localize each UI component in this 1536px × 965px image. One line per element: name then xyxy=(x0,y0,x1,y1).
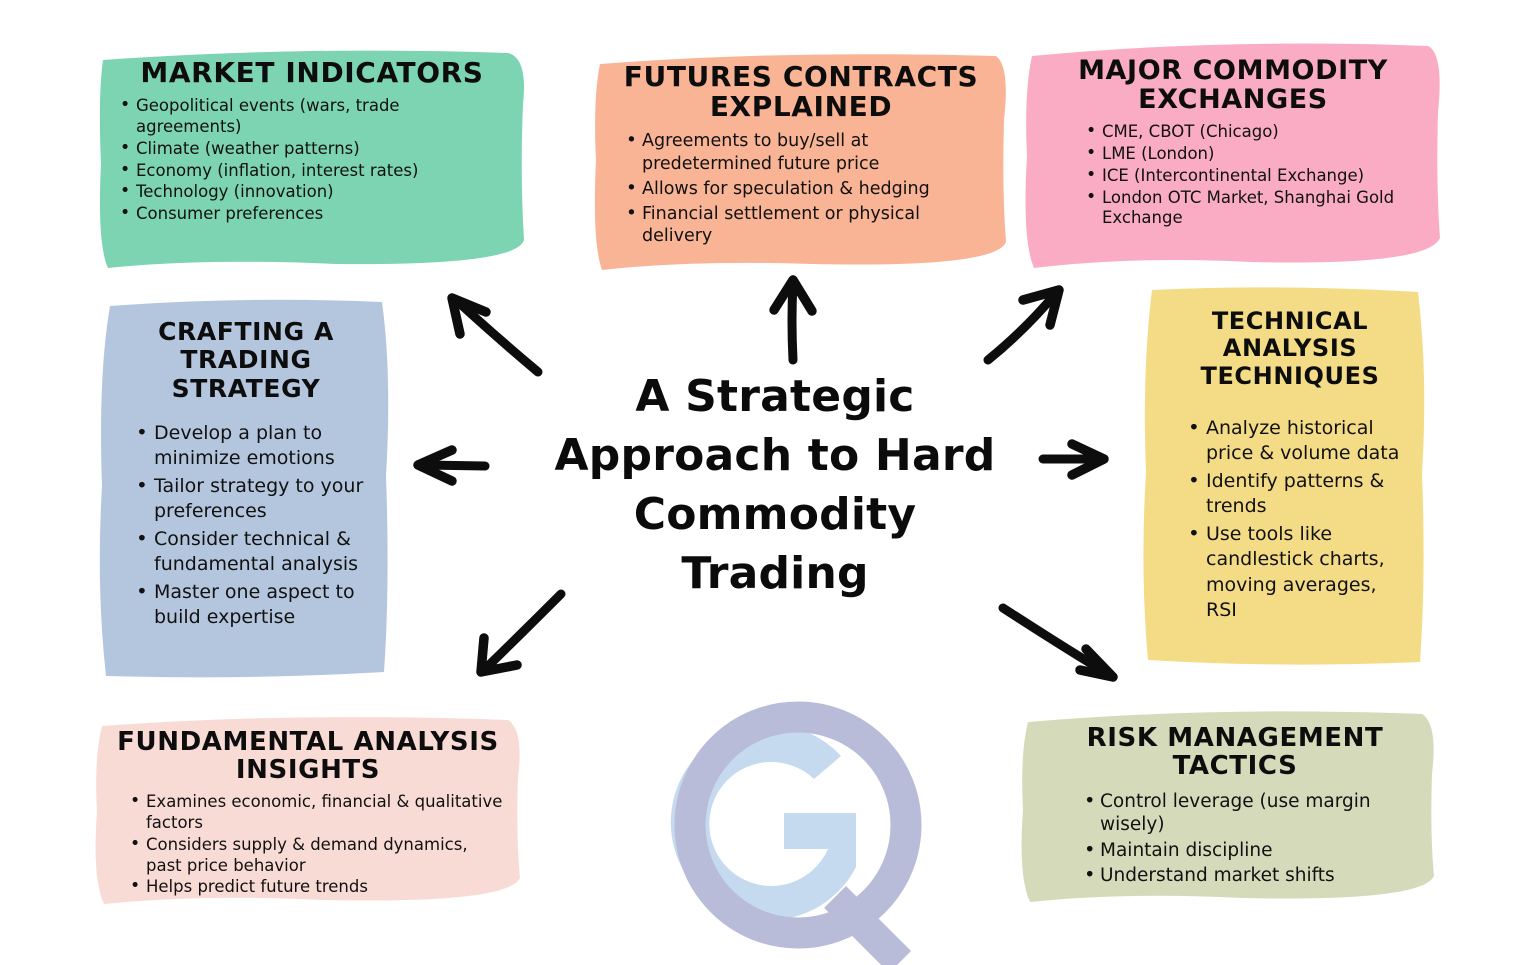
arrow-to-commodity-exchanges xyxy=(988,290,1059,360)
list-item: Climate (weather patterns) xyxy=(116,139,508,160)
card-commodity-exchanges[interactable]: MAJOR COMMODITY EXCHANGES CME, CBOT (Chi… xyxy=(1022,36,1444,274)
card-title-risk-management: RISK MANAGEMENT TACTICS xyxy=(1050,724,1420,780)
arrow-to-trading-strategy xyxy=(418,450,485,481)
arrow-to-technical-analysis xyxy=(1043,444,1104,475)
card-title-line-1: FUTURES CONTRACTS xyxy=(612,62,990,92)
card-title-futures-contracts: FUTURES CONTRACTS EXPLAINED xyxy=(612,62,990,122)
list-item: Identify patterns & trends xyxy=(1184,469,1412,519)
list-item: Examines economic, financial & qualitati… xyxy=(126,792,504,834)
arrow-to-risk-management xyxy=(1003,608,1113,677)
list-item: Maintain discipline xyxy=(1080,839,1420,862)
card-title-line-1: CRAFTING A xyxy=(118,318,374,346)
list-item: Tailor strategy to your preferences xyxy=(132,474,374,524)
card-futures-contracts[interactable]: FUTURES CONTRACTS EXPLAINED Agreements t… xyxy=(592,50,1010,277)
list-item: Use tools like candlestick charts, movin… xyxy=(1184,522,1412,622)
list-item: Consider technical & fundamental analysi… xyxy=(132,527,374,577)
card-trading-strategy[interactable]: CRAFTING A TRADING STRATEGY Develop a pl… xyxy=(96,296,392,682)
page-title-line-4: Trading xyxy=(540,545,1010,604)
list-item: Allows for speculation & hedging xyxy=(622,178,990,200)
list-item: Analyze historical price & volume data xyxy=(1184,416,1412,466)
card-title-line-2: EXPLAINED xyxy=(612,92,990,122)
card-title-fundamental-analysis: FUNDAMENTAL ANALYSIS INSIGHTS xyxy=(112,728,504,784)
card-title-line-2: ANALYSIS xyxy=(1168,335,1412,362)
sq-logo-watermark xyxy=(650,690,950,965)
card-title-technical-analysis: TECHNICAL ANALYSIS TECHNIQUES xyxy=(1168,308,1412,390)
card-market-indicators[interactable]: MARKET INDICATORS Geopolitical events (w… xyxy=(96,44,528,276)
card-title-line-1: FUNDAMENTAL ANALYSIS xyxy=(112,728,504,756)
card-title-trading-strategy: CRAFTING A TRADING STRATEGY xyxy=(118,318,374,403)
list-item: Understand market shifts xyxy=(1080,864,1420,887)
card-title-market-indicators: MARKET INDICATORS xyxy=(116,58,508,88)
card-fundamental-analysis[interactable]: FUNDAMENTAL ANALYSIS INSIGHTS Examines e… xyxy=(92,712,524,908)
card-list-futures-contracts: Agreements to buy/sell at predetermined … xyxy=(612,130,990,246)
list-item: Economy (inflation, interest rates) xyxy=(116,161,508,182)
list-item: Master one aspect to build expertise xyxy=(132,580,374,630)
page-title: A Strategic Approach to Hard Commodity T… xyxy=(540,368,1010,604)
card-title-line-2: EXCHANGES xyxy=(1042,85,1424,114)
list-item: Geopolitical events (wars, trade agreeme… xyxy=(116,96,508,138)
card-title-line-1: RISK MANAGEMENT xyxy=(1050,724,1420,752)
card-title-line-1: TECHNICAL xyxy=(1168,308,1412,335)
page-title-line-3: Commodity xyxy=(540,486,1010,545)
card-list-commodity-exchanges: CME, CBOT (Chicago) LME (London) ICE (In… xyxy=(1042,122,1424,229)
list-item: Agreements to buy/sell at predetermined … xyxy=(622,130,990,174)
list-item: CME, CBOT (Chicago) xyxy=(1082,122,1424,143)
list-item: Considers supply & demand dynamics, past… xyxy=(126,835,504,877)
card-title-line-3: TECHNIQUES xyxy=(1168,363,1412,390)
arrow-to-market-indicators xyxy=(452,298,538,372)
page-title-line-1: A Strategic xyxy=(540,368,1010,427)
card-title-line-3: STRATEGY xyxy=(118,375,374,403)
list-item: Technology (innovation) xyxy=(116,182,508,203)
card-title-line-2: TACTICS xyxy=(1050,752,1420,780)
card-list-fundamental-analysis: Examines economic, financial & qualitati… xyxy=(112,792,504,898)
list-item: Control leverage (use margin wisely) xyxy=(1080,790,1420,837)
card-title-line-1: MAJOR COMMODITY xyxy=(1042,56,1424,85)
card-title-commodity-exchanges: MAJOR COMMODITY EXCHANGES xyxy=(1042,56,1424,114)
list-item: Consumer preferences xyxy=(116,204,508,225)
card-list-technical-analysis: Analyze historical price & volume data I… xyxy=(1168,416,1412,623)
list-item: London OTC Market, Shanghai Gold Exchang… xyxy=(1082,188,1424,230)
card-risk-management[interactable]: RISK MANAGEMENT TACTICS Control leverage… xyxy=(1018,706,1438,906)
arrow-to-fundamental-analysis xyxy=(481,594,561,672)
card-technical-analysis[interactable]: TECHNICAL ANALYSIS TECHNIQUES Analyze hi… xyxy=(1140,284,1428,668)
list-item: ICE (Intercontinental Exchange) xyxy=(1082,166,1424,187)
list-item: Develop a plan to minimize emotions xyxy=(132,421,374,471)
infographic-canvas: .ar { fill:none; stroke:#0d0d0d; stroke-… xyxy=(0,0,1536,965)
list-item: LME (London) xyxy=(1082,144,1424,165)
list-item: Financial settlement or physical deliver… xyxy=(622,203,990,247)
list-item: Helps predict future trends xyxy=(126,877,504,898)
card-list-trading-strategy: Develop a plan to minimize emotions Tail… xyxy=(118,421,374,631)
page-title-line-2: Approach to Hard xyxy=(540,427,1010,486)
card-title-line-2: INSIGHTS xyxy=(112,756,504,784)
card-list-market-indicators: Geopolitical events (wars, trade agreeme… xyxy=(116,96,508,225)
card-list-risk-management: Control leverage (use margin wisely) Mai… xyxy=(1080,790,1420,887)
arrow-to-futures-contracts xyxy=(774,280,812,360)
card-title-line-2: TRADING xyxy=(118,346,374,374)
